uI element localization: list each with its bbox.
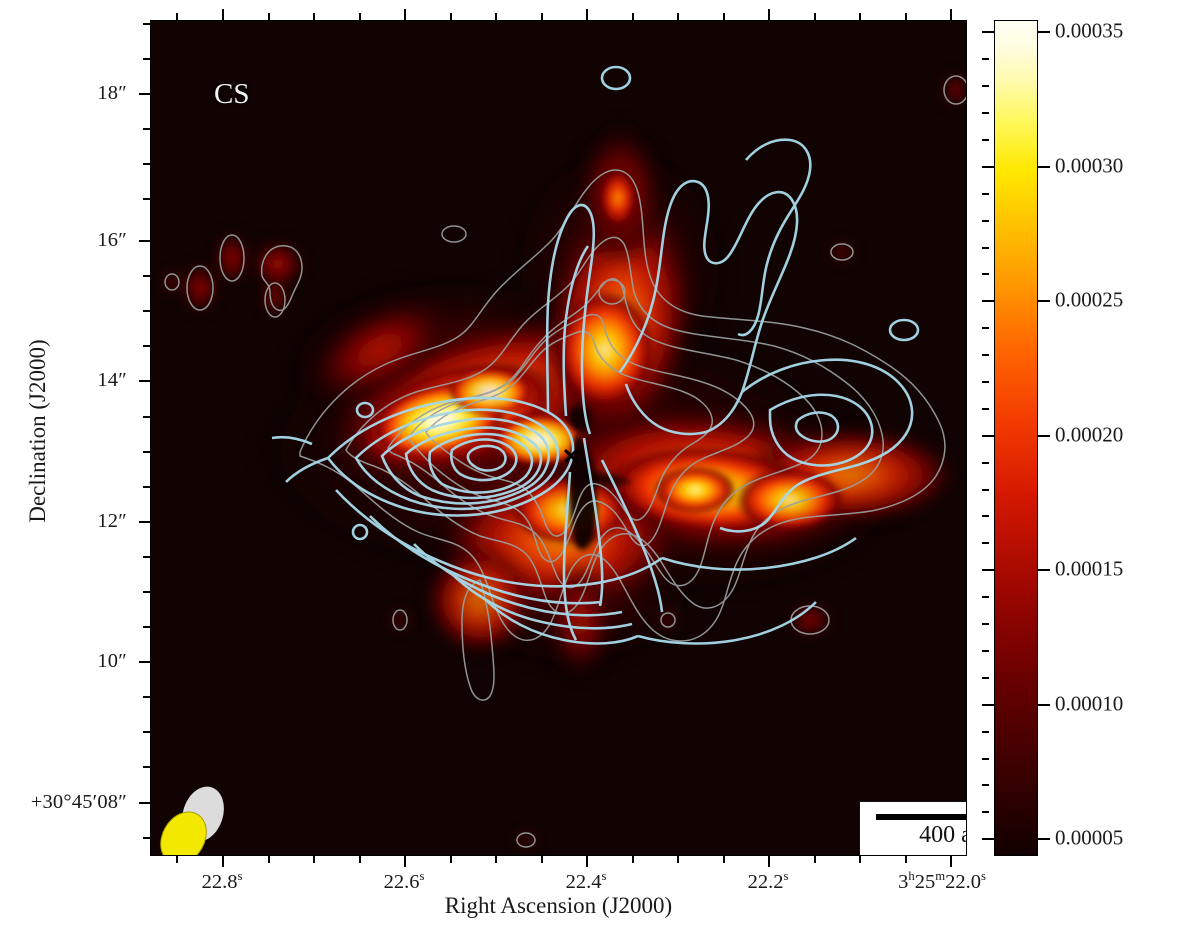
colorbar-tick-label: 0.00020 [1055,423,1123,448]
y-tick-label: 18″ [97,82,127,105]
y-tick-label: 14″ [97,369,127,392]
x-tick-label: 22.6s [384,869,425,894]
spectral-line-label: CS [214,78,249,111]
colorbar-tick-label: 0.00015 [1055,557,1123,582]
x-tick-label: 3h25m22.0s [898,869,986,894]
y-tick-label: 16″ [97,229,127,252]
x-tick-value: 22.8 [202,871,238,893]
x-tick-value: 22.4 [566,871,602,893]
colorbar-tick-label: 0.00035 [1055,19,1123,44]
colorbar-tick-label: 0.00010 [1055,692,1123,717]
sky-map-canvas [150,20,967,856]
x-tick-label: 22.2s [748,869,789,894]
colorbar-tick-label: 0.00030 [1055,154,1123,179]
y-axis-title: Declination (J2000) [25,221,51,641]
scale-bar: 400 au [859,801,967,856]
astronomy-figure: CS ✕ 400 au 18″ 16 [0,0,1200,933]
x-tick-label: 22.8s [202,869,243,894]
y-tick-label: 10″ [97,650,127,673]
colorbar [994,20,1038,856]
scale-bar-rule [876,814,968,820]
x-tick-value: 22.6 [384,871,420,893]
x-tick-value: 22.2 [748,871,784,893]
colorbar-tick-label: 0.00005 [1055,826,1123,851]
scale-bar-label: 400 au [919,822,967,849]
y-tick-label: 12″ [97,510,127,533]
sky-map-panel: CS ✕ 400 au [150,20,967,856]
x-tick-label: 22.4s [566,869,607,894]
y-tick-label: +30°45′08″ [31,791,127,814]
colorbar-tick-label: 0.00025 [1055,288,1123,313]
source-position-marker: ✕ [561,447,581,467]
x-axis-title: Right Ascension (J2000) [150,893,967,919]
